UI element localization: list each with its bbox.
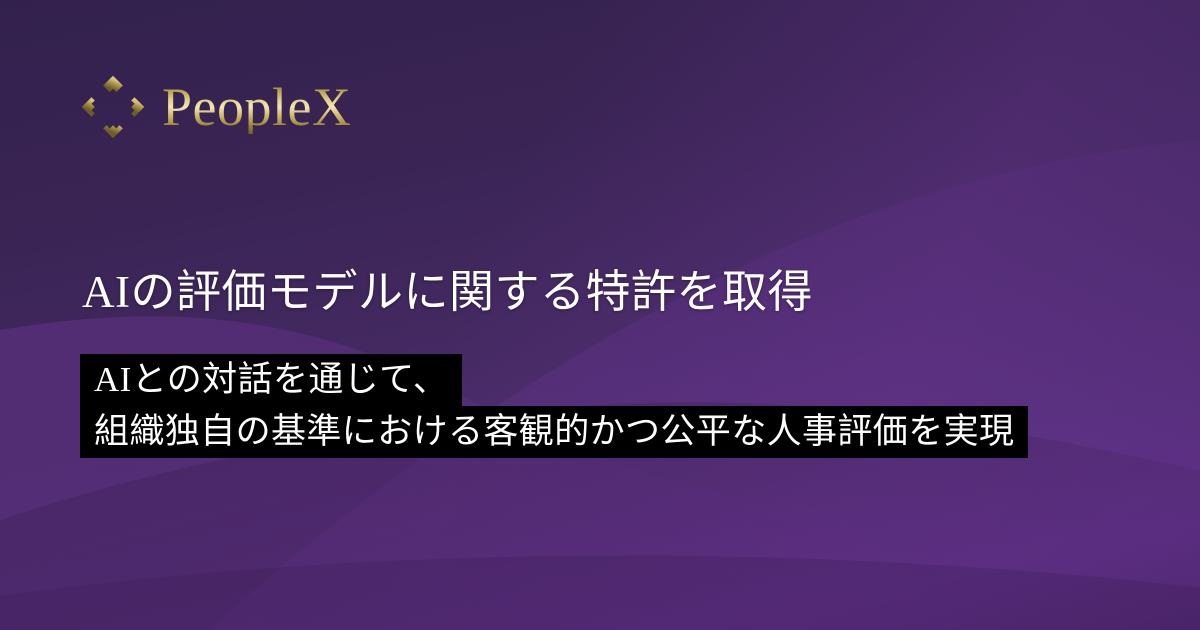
logo-lockup: PeopleX <box>80 74 351 140</box>
og-card: PeopleX AIの評価モデルに関する特許を取得 AIとの対話を通じて、 組織… <box>0 0 1200 630</box>
page-title: AIの評価モデルに関する特許を取得 <box>82 266 813 319</box>
logo-wordmark: PeopleX <box>162 80 351 134</box>
peoplex-diamond-mark-icon <box>80 74 146 140</box>
subtitle-block: AIとの対話を通じて、 組織独自の基準における客観的かつ公平な人事評価を実現 <box>80 354 1028 458</box>
subtitle-line-2: 組織独自の基準における客観的かつ公平な人事評価を実現 <box>80 406 1028 458</box>
subtitle-line-1: AIとの対話を通じて、 <box>80 354 462 406</box>
